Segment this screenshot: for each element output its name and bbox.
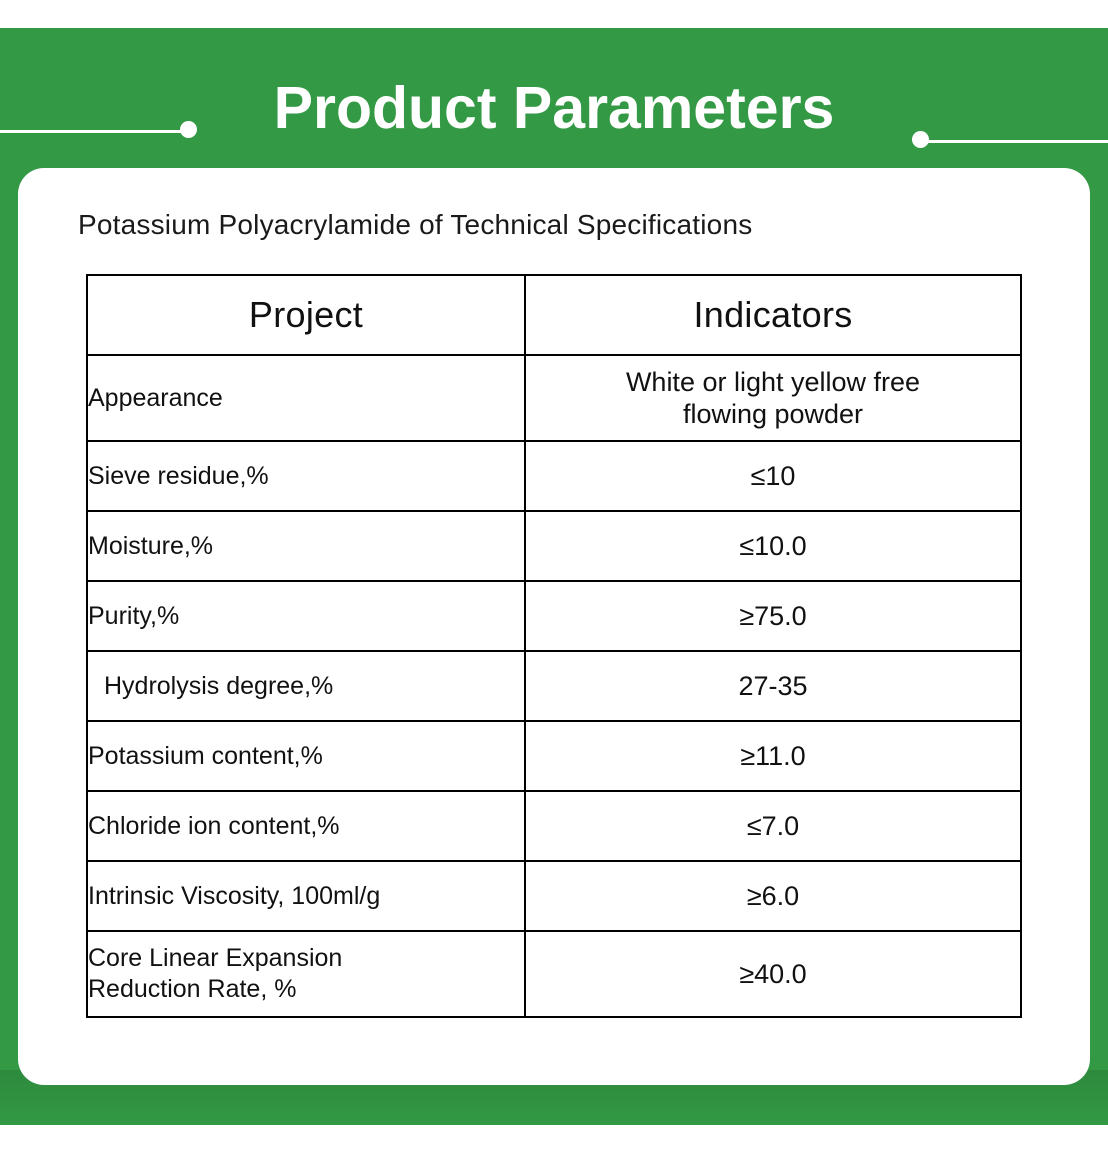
cell-indicator: ≤10 [525,441,1021,511]
cell-project: Purity,% [87,581,525,651]
page-title: Product Parameters [0,72,1108,144]
decorative-rule-right [928,140,1108,143]
product-parameters-page: Product Parameters Potassium Polyacrylam… [0,0,1108,1152]
table-row: Hydrolysis degree,% 27-35 [87,651,1021,721]
cell-project: Core Linear Expansion Reduction Rate, % [87,931,525,1017]
cell-project: Intrinsic Viscosity, 100ml/g [87,861,525,931]
cell-project: Moisture,% [87,511,525,581]
cell-project: Hydrolysis degree,% [87,651,525,721]
column-header-project: Project [87,275,525,355]
cell-project: Sieve residue,% [87,441,525,511]
table-row: Purity,% ≥75.0 [87,581,1021,651]
table-row: Chloride ion content,% ≤7.0 [87,791,1021,861]
specifications-card: Potassium Polyacrylamide of Technical Sp… [18,168,1090,1085]
cell-indicator: ≥75.0 [525,581,1021,651]
cell-indicator: 27-35 [525,651,1021,721]
table-body: Appearance White or light yellow free fl… [87,355,1021,1017]
cell-indicator: White or light yellow free flowing powde… [525,355,1021,441]
table-row: Potassium content,% ≥11.0 [87,721,1021,791]
spec-title: Potassium Polyacrylamide of Technical Sp… [78,209,752,241]
table-row: Intrinsic Viscosity, 100ml/g ≥6.0 [87,861,1021,931]
table-row: Core Linear Expansion Reduction Rate, % … [87,931,1021,1017]
table-row: Appearance White or light yellow free fl… [87,355,1021,441]
cell-indicator: ≤10.0 [525,511,1021,581]
cell-project: Potassium content,% [87,721,525,791]
cell-indicator: ≥6.0 [525,861,1021,931]
decorative-dot-right [912,131,929,148]
cell-indicator: ≥40.0 [525,931,1021,1017]
table-row: Sieve residue,% ≤10 [87,441,1021,511]
cell-indicator: ≥11.0 [525,721,1021,791]
cell-project: Appearance [87,355,525,441]
table-row: Moisture,% ≤10.0 [87,511,1021,581]
column-header-indicators: Indicators [525,275,1021,355]
table-header-row: Project Indicators [87,275,1021,355]
banner-header: Product Parameters [0,28,1108,168]
table-head: Project Indicators [87,275,1021,355]
specifications-table: Project Indicators Appearance White or l… [86,274,1022,1018]
cell-project: Chloride ion content,% [87,791,525,861]
cell-indicator: ≤7.0 [525,791,1021,861]
